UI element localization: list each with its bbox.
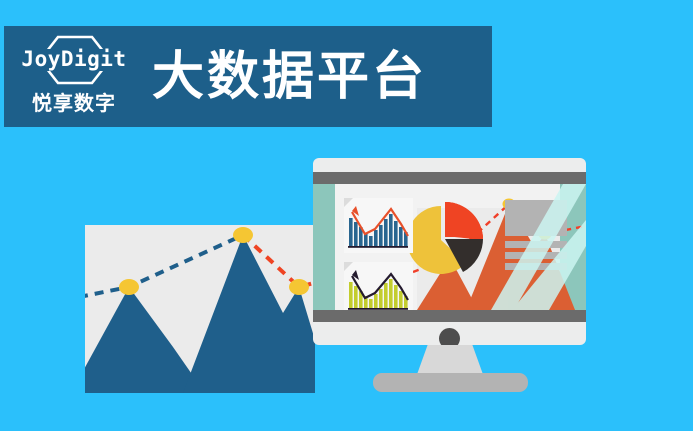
bar-chart-card-olive [344, 262, 413, 310]
bar-chart-card-blue [344, 198, 413, 253]
monitor-stand-base [373, 373, 528, 392]
mountain-shape-center [183, 235, 315, 393]
page-title: 大数据平台 [152, 51, 427, 103]
monitor-screen [313, 184, 586, 310]
glare-band-left [313, 184, 335, 310]
mountain-chart [85, 225, 315, 393]
brand-wordmark: JoyDigit [18, 47, 130, 71]
monitor-bezel-bottom [313, 310, 586, 322]
brand-subtitle: 悦享数字 [18, 87, 130, 116]
header-banner: JoyDigit 悦享数字 大数据平台 [4, 26, 492, 127]
data-marker [233, 227, 253, 243]
brand-logo: JoyDigit 悦享数字 [18, 35, 130, 119]
illustration-canvas: JoyDigit 悦享数字 大数据平台 [0, 0, 693, 431]
trend-line-blue [85, 235, 243, 297]
monitor-bezel-top [313, 172, 586, 184]
mountain-shape-left [85, 287, 205, 393]
data-marker [289, 279, 309, 295]
desktop-monitor [313, 158, 586, 390]
screen-content [313, 184, 586, 310]
data-marker [119, 279, 139, 295]
mountain-trend-panel [85, 225, 315, 393]
